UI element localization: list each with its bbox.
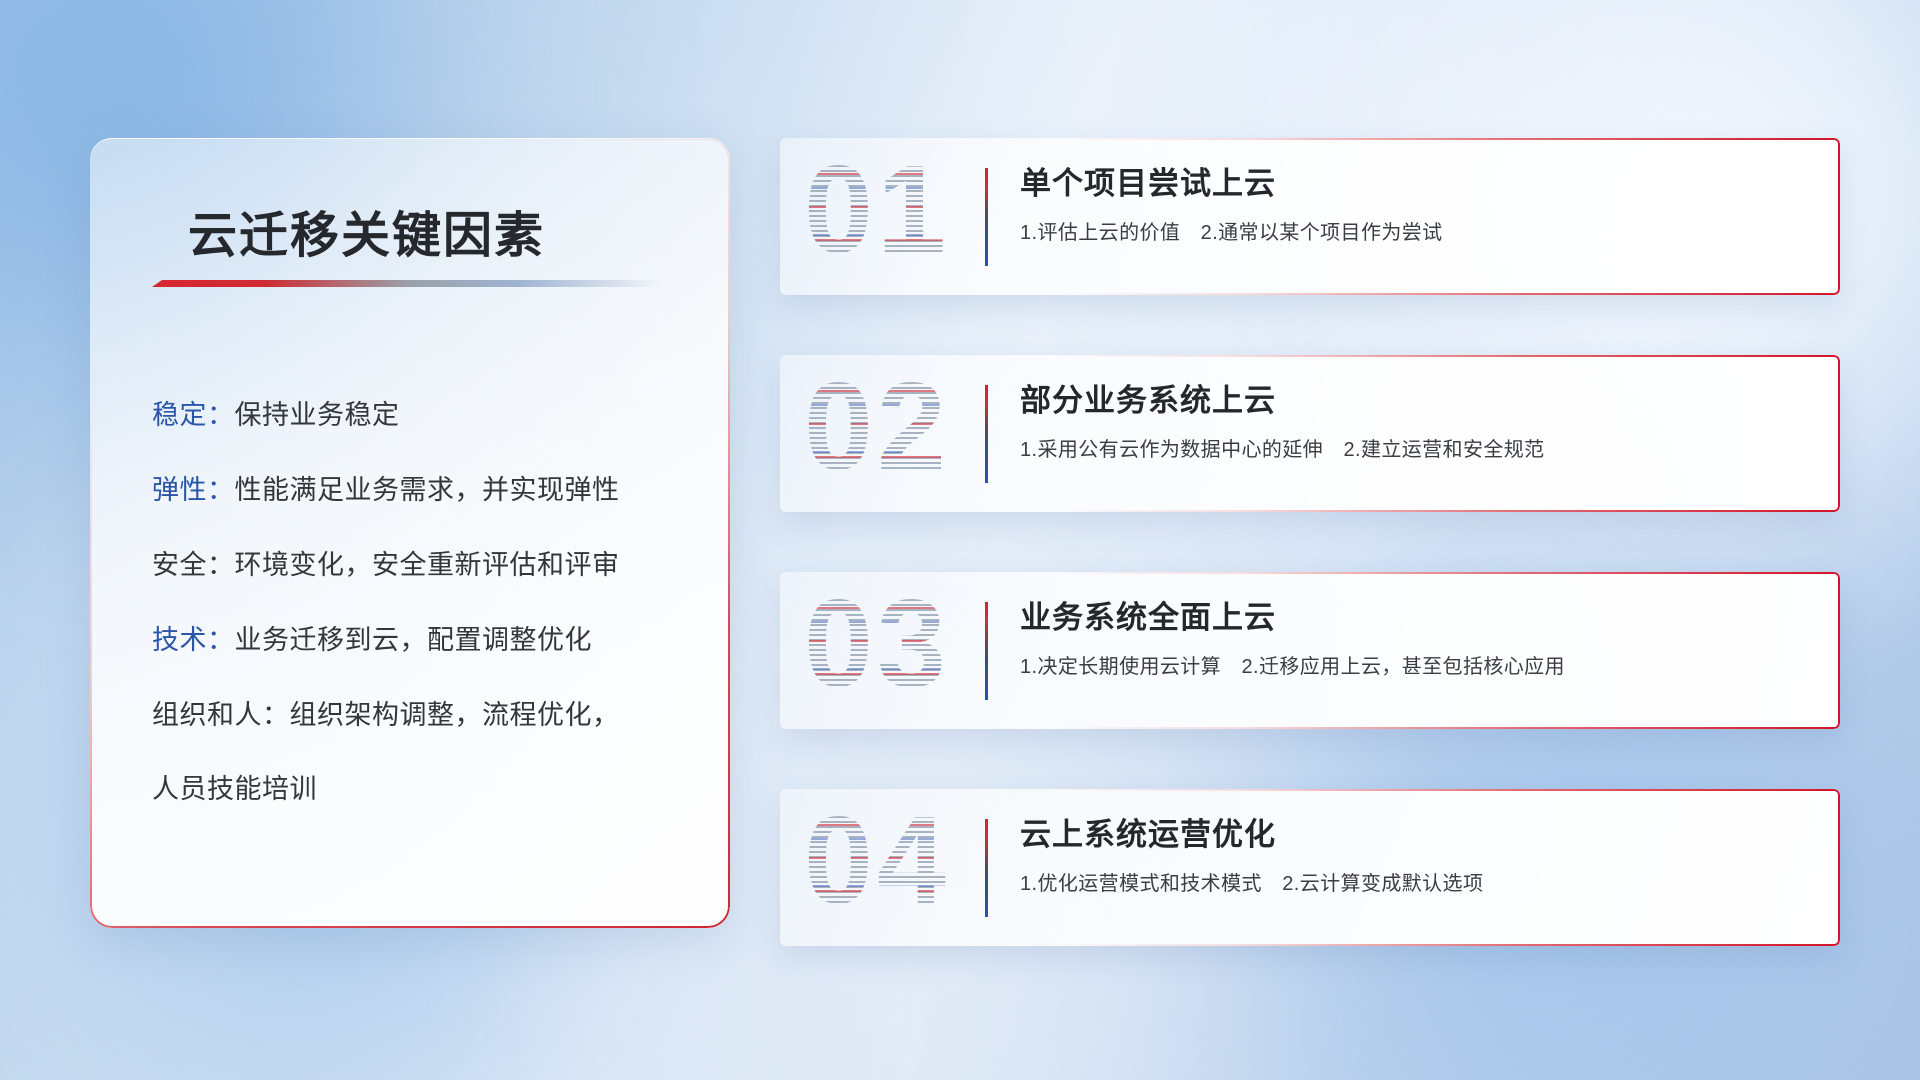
list-item-label: 安全：: [152, 550, 235, 580]
card-description: 1.评估上云的价值 2.通常以某个项目作为尝试: [1020, 218, 1820, 248]
list-item-text: 业务迁移到云，配置调整优化: [235, 625, 593, 655]
page-title: 云迁移关键因素: [188, 196, 545, 267]
list-item-text: 保持业务稳定: [235, 400, 400, 430]
list-item-continuation: 人员技能培训: [152, 753, 690, 825]
card-description: 1.决定长期使用云计算 2.迁移应用上云，甚至包括核心应用: [1020, 652, 1820, 682]
card-description: 1.采用公有云作为数据中心的延伸 2.建立运营和安全规范: [1020, 435, 1820, 465]
key-factors-list: 稳定：保持业务稳定 弹性：性能满足业务需求，并实现弹性 安全：环境变化，安全重新…: [152, 378, 690, 825]
stage-number-blue-scanlines: 03: [804, 582, 950, 714]
card-accent-bar: [985, 385, 988, 483]
stage-number-blue-scanlines: 04: [804, 799, 950, 931]
list-item-label: 组织和人：: [152, 700, 290, 730]
card-accent-bar: [985, 602, 988, 700]
stage-card[interactable]: 02 02 02 部分业务系统上云 1.采用公有云作为数据中心的延伸 2.建立运…: [780, 355, 1840, 512]
migration-stage-cards: 01 01 01 单个项目尝试上云 1.评估上云的价值 2.通常以某个项目作为尝…: [780, 138, 1840, 1006]
stage-number-glyph: 01 01 01: [804, 148, 994, 288]
list-item-label: 稳定：: [152, 400, 235, 430]
stage-card[interactable]: 03 03 03 业务系统全面上云 1.决定长期使用云计算 2.迁移应用上云，甚…: [780, 572, 1840, 729]
card-title: 部分业务系统上云: [1020, 379, 1820, 423]
list-item-label: 技术：: [152, 625, 235, 655]
card-text-block: 业务系统全面上云 1.决定长期使用云计算 2.迁移应用上云，甚至包括核心应用: [1020, 596, 1820, 682]
card-title: 业务系统全面上云: [1020, 596, 1820, 640]
list-item-text: 组织架构调整，流程优化，: [290, 700, 620, 730]
card-title: 云上系统运营优化: [1020, 813, 1820, 857]
card-accent-bar: [985, 819, 988, 917]
list-item: 弹性：性能满足业务需求，并实现弹性: [152, 453, 690, 528]
card-accent-bar: [985, 168, 988, 266]
list-item-text: 环境变化，安全重新评估和评审: [235, 550, 620, 580]
key-factors-panel: 云迁移关键因素 稳定：保持业务稳定 弹性：性能满足业务需求，并实现弹性 安全：环…: [90, 138, 730, 928]
stage-card[interactable]: 04 04 04 云上系统运营优化 1.优化运营模式和技术模式 2.云计算变成默…: [780, 789, 1840, 946]
stage-number-glyph: 02 02 02: [804, 365, 994, 505]
card-text-block: 云上系统运营优化 1.优化运营模式和技术模式 2.云计算变成默认选项: [1020, 813, 1820, 899]
stage-number-blue-scanlines: 02: [804, 365, 950, 497]
list-item: 技术：业务迁移到云，配置调整优化: [152, 603, 690, 678]
card-description: 1.优化运营模式和技术模式 2.云计算变成默认选项: [1020, 869, 1820, 899]
card-title: 单个项目尝试上云: [1020, 162, 1820, 206]
title-underline-rule: [152, 280, 662, 287]
list-item: 稳定：保持业务稳定: [152, 378, 690, 453]
list-item-text: 人员技能培训: [152, 774, 317, 804]
list-item: 安全：环境变化，安全重新评估和评审: [152, 528, 690, 603]
card-text-block: 单个项目尝试上云 1.评估上云的价值 2.通常以某个项目作为尝试: [1020, 162, 1820, 248]
list-item-label: 弹性：: [152, 475, 235, 505]
list-item-text: 性能满足业务需求，并实现弹性: [235, 475, 620, 505]
stage-number-glyph: 03 03 03: [804, 582, 994, 722]
list-item: 组织和人：组织架构调整，流程优化，: [152, 678, 690, 753]
stage-number-glyph: 04 04 04: [804, 799, 994, 939]
stage-card[interactable]: 01 01 01 单个项目尝试上云 1.评估上云的价值 2.通常以某个项目作为尝…: [780, 138, 1840, 295]
card-text-block: 部分业务系统上云 1.采用公有云作为数据中心的延伸 2.建立运营和安全规范: [1020, 379, 1820, 465]
stage-number-blue-scanlines: 01: [804, 148, 950, 280]
slide-stage: 云迁移关键因素 稳定：保持业务稳定 弹性：性能满足业务需求，并实现弹性 安全：环…: [0, 0, 1920, 1080]
